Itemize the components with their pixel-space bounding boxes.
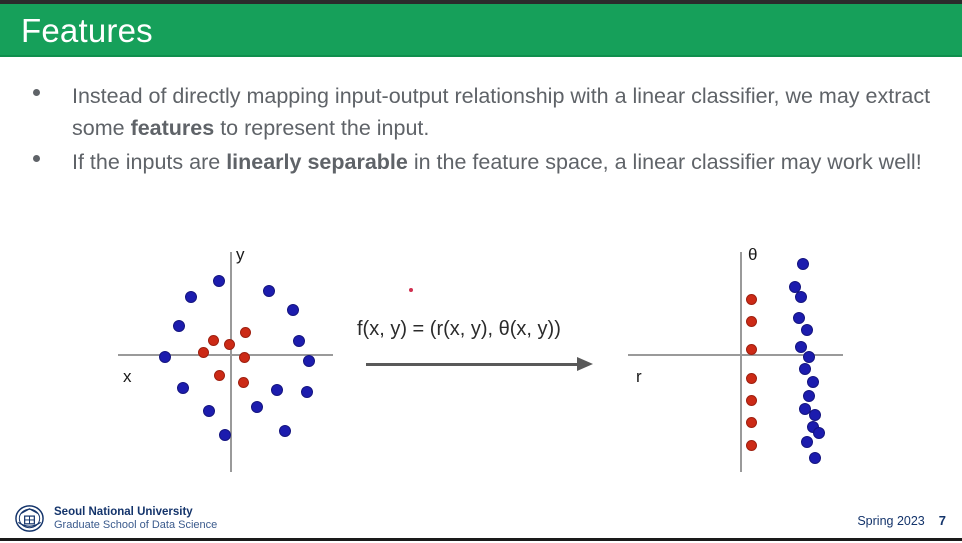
school-name: Graduate School of Data Science [54,519,217,532]
scatter-point [214,370,225,381]
term-label: Spring 2023 [857,514,924,528]
scatter-point [746,417,757,428]
bullet-text-1: Instead of directly mapping input-output… [44,80,933,144]
scatter-point [213,275,225,287]
scatter-point [238,377,249,388]
scatter-point [293,335,305,347]
right-arrow-icon [366,363,581,366]
scatter-point [746,344,757,355]
scatter-point [287,304,299,316]
scatter-point [803,390,815,402]
scatter-point [240,327,251,338]
y-axis-label: y [236,246,245,263]
scatter-point [203,405,215,417]
scatter-point [224,339,235,350]
scatter-point [807,376,819,388]
scatter-point [208,335,219,346]
scatter-point [263,285,275,297]
page-title: Features [21,11,153,51]
scatter-point [177,382,189,394]
scatter-point [159,351,171,363]
bullet-list: Instead of directly mapping input-output… [28,80,933,180]
scatter-point [271,384,283,396]
list-item: If the inputs are linearly separable in … [28,146,933,178]
scatter-point [809,452,821,464]
page-number: 7 [939,513,946,528]
y-axis-line [230,252,232,472]
scatter-point [746,395,757,406]
scatter-point [251,401,263,413]
scatter-point [279,425,291,437]
emphasis-text: linearly separable [226,150,408,174]
scatter-point [746,440,757,451]
transform-formula: f(x, y) = (r(x, y), θ(x, y)) [357,318,561,341]
input-space-scatter: y x [118,240,333,485]
scatter-point [801,436,813,448]
right-arrow-head-icon [577,357,593,371]
feature-space-scatter: θ r [628,240,843,485]
snu-emblem-icon [14,503,45,534]
scatter-point [198,347,209,358]
theta-axis-label: θ [748,246,757,263]
scatter-point [746,294,757,305]
bullet-marker-icon [28,80,44,96]
scatter-point [795,291,807,303]
body-text: If the inputs are [72,150,226,174]
scatter-point [173,320,185,332]
scatter-point [813,427,825,439]
footer-divider [0,538,962,541]
scatter-point [797,258,809,270]
scatter-point [793,312,805,324]
x-axis-line [118,354,333,356]
theta-axis-line [740,252,742,472]
bullet-marker-icon [28,146,44,162]
university-logo: Seoul National University Graduate Schoo… [14,503,217,534]
footer-meta: Spring 2023 7 [857,513,946,528]
scatter-point [809,409,821,421]
scatter-point [239,352,250,363]
slide-header-band: Features [0,4,962,57]
scatter-point [801,324,813,336]
scatter-point [185,291,197,303]
logo-text-block: Seoul National University Graduate Schoo… [54,506,217,532]
transform-annotation: f(x, y) = (r(x, y), θ(x, y)) [352,240,617,390]
scatter-point [301,386,313,398]
stray-dot-artifact [409,288,413,292]
scatter-point [746,373,757,384]
bullet-text-2: If the inputs are linearly separable in … [44,146,933,178]
x-axis-label: x [123,368,132,385]
scatter-point [303,355,315,367]
scatter-point [803,351,815,363]
university-name: Seoul National University [54,506,217,519]
scatter-point [746,316,757,327]
body-text: to represent the input. [214,116,429,140]
body-text: in the feature space, a linear classifie… [408,150,922,174]
scatter-point [799,363,811,375]
r-axis-label: r [636,368,642,385]
list-item: Instead of directly mapping input-output… [28,80,933,144]
emphasis-text: features [131,116,215,140]
